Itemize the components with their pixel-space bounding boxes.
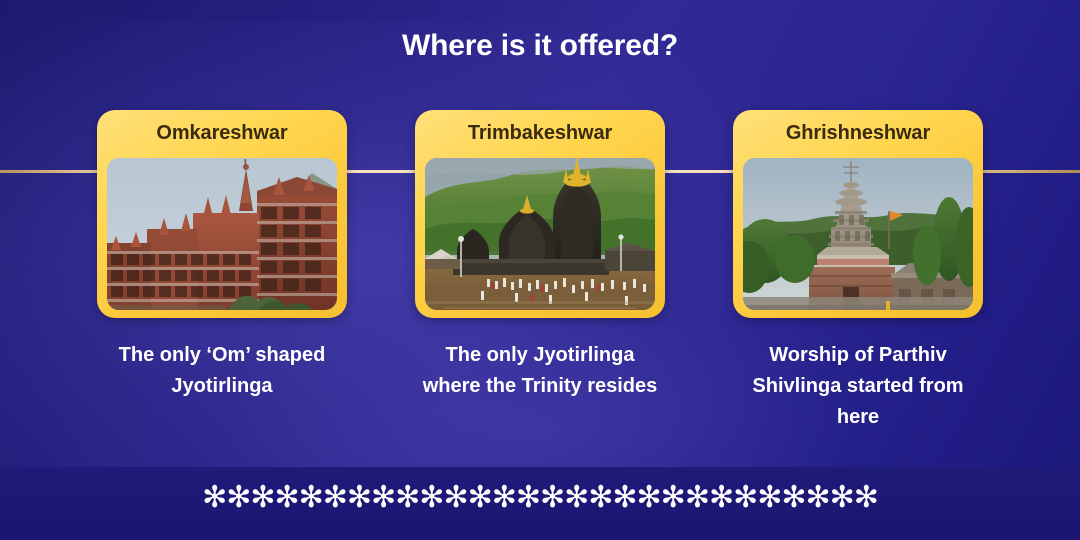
temple-card-omkareshwar[interactable]: Omkareshwar xyxy=(97,110,347,433)
card-caption: Worship of Parthiv Shivlinga started fro… xyxy=(738,340,978,433)
temple-card-row: Omkareshwar xyxy=(0,110,1080,433)
flower-divider-strip: ✻✻✻✻✻✻✻✻✻✻✻✻✻✻✻✻✻✻✻✻✻✻✻✻✻✻✻✻ xyxy=(0,483,1080,513)
temple-photo-ghrishneshwar xyxy=(743,158,973,310)
page-title: Where is it offered? xyxy=(0,28,1080,64)
card-caption: The only Jyotirlinga where the Trinity r… xyxy=(420,340,660,402)
temple-photo-omkareshwar xyxy=(107,158,337,310)
card-title: Trimbakeshwar xyxy=(415,110,665,156)
card-caption: The only ‘Om’ shaped Jyotirlinga xyxy=(102,340,342,402)
card-frame[interactable]: Ghrishneshwar xyxy=(733,110,983,318)
slide-canvas: Where is it offered? Omkareshwar xyxy=(0,0,1080,540)
card-title: Omkareshwar xyxy=(97,110,347,156)
temple-photo-trimbakeshwar xyxy=(425,158,655,310)
temple-card-trimbakeshwar[interactable]: Trimbakeshwar xyxy=(415,110,665,433)
temple-card-ghrishneshwar[interactable]: Ghrishneshwar xyxy=(733,110,983,433)
omkareshwar-illustration xyxy=(107,158,337,310)
card-frame[interactable]: Omkareshwar xyxy=(97,110,347,318)
card-frame[interactable]: Trimbakeshwar xyxy=(415,110,665,318)
trimbakeshwar-illustration xyxy=(425,158,655,310)
card-title: Ghrishneshwar xyxy=(733,110,983,156)
ghrishneshwar-illustration xyxy=(743,158,973,310)
